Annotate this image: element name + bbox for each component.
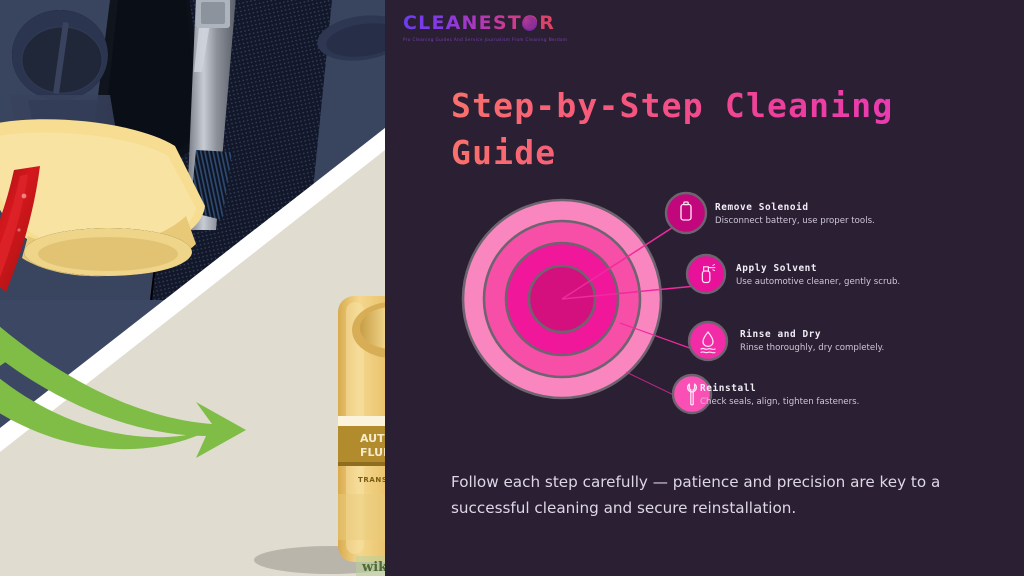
step-title-1: Remove Solenoid <box>715 202 875 213</box>
footer-note: Follow each step carefully — patience an… <box>451 469 951 521</box>
step-item-4[interactable]: Reinstall Check seals, align, tighten fa… <box>700 383 859 407</box>
bottle-label-line1: AUTO <box>360 432 385 445</box>
illustration-panel: AUTO FLUID TRANS wik <box>0 0 385 576</box>
step-bubble-2 <box>687 255 725 293</box>
content-panel: CLEANESTOR Pro Cleaning Guides And Servi… <box>385 0 1024 576</box>
step-item-3[interactable]: Rinse and Dry Rinse thoroughly, dry comp… <box>740 329 884 353</box>
step-desc-4: Check seals, align, tighten fasteners. <box>700 397 859 407</box>
step-title-4: Reinstall <box>700 383 859 394</box>
watermark: wik <box>356 556 385 576</box>
bottle-label-line2: FLUID <box>360 446 385 459</box>
slide-root: AUTO FLUID TRANS wik CLEANESTOR Pro Clea… <box>0 0 1024 576</box>
step-desc-3: Rinse thoroughly, dry completely. <box>740 343 884 353</box>
page-title: Step-by-Step Cleaning Guide <box>451 82 921 176</box>
reservoir-cap <box>12 10 108 100</box>
brand-tagline: Pro Cleaning Guides And Service Journali… <box>403 37 563 42</box>
watermark-text: wik <box>361 560 385 575</box>
step-desc-1: Disconnect battery, use proper tools. <box>715 216 875 226</box>
step-title-3: Rinse and Dry <box>740 329 884 340</box>
bottle-label-line3: TRANS <box>358 476 385 484</box>
step-item-1[interactable]: Remove Solenoid Disconnect battery, use … <box>715 202 875 226</box>
brand-logo[interactable]: CLEANESTOR Pro Cleaning Guides And Servi… <box>403 14 563 42</box>
step-bubble-1 <box>666 193 706 233</box>
step-desc-2: Use automotive cleaner, gently scrub. <box>736 277 900 287</box>
step-item-2[interactable]: Apply Solvent Use automotive cleaner, ge… <box>736 263 900 287</box>
steps-diagram: Remove Solenoid Disconnect battery, use … <box>440 168 1000 430</box>
step-title-2: Apply Solvent <box>736 263 900 274</box>
circle-badge-icon <box>522 16 537 31</box>
step-bubble-3 <box>689 322 727 360</box>
